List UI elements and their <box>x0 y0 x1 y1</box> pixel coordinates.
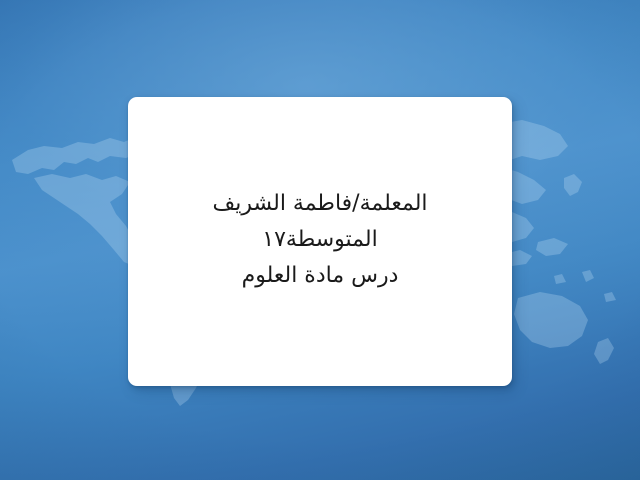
slide-canvas: المعلمة/فاطمة الشريف المتوسطة١٧ درس مادة… <box>0 0 640 480</box>
slide-text-line-3: درس مادة العلوم <box>142 258 498 294</box>
slide-text-line-2: المتوسطة١٧ <box>142 222 498 258</box>
content-card: المعلمة/فاطمة الشريف المتوسطة١٧ درس مادة… <box>128 97 512 386</box>
slide-text-block: المعلمة/فاطمة الشريف المتوسطة١٧ درس مادة… <box>128 186 512 294</box>
slide-text-line-1: المعلمة/فاطمة الشريف <box>142 186 498 222</box>
